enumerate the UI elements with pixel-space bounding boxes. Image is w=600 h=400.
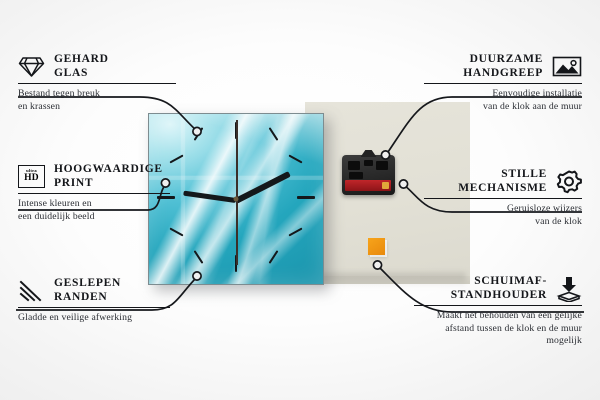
tick-4 xyxy=(288,227,302,236)
clock-mechanism xyxy=(342,155,395,195)
feature-title-line1: DUURZAME xyxy=(463,53,543,67)
battery xyxy=(345,180,391,191)
tick-5 xyxy=(269,250,279,264)
feature-rule xyxy=(414,305,582,306)
feature-duurzame-handgreep: DUURZAME HANDGREEP Eenvoudige installati… xyxy=(424,53,582,113)
press-down-icon xyxy=(556,276,582,302)
feature-geslepen-randen: GESLEPEN RANDEN Gladde en veilige afwerk… xyxy=(18,277,170,325)
gear-icon xyxy=(556,169,582,194)
picture-frame-icon xyxy=(552,55,582,78)
feature-rule xyxy=(18,83,176,84)
tick-2 xyxy=(288,154,302,163)
tick-7 xyxy=(194,250,204,264)
minute-hand xyxy=(235,171,291,204)
tick-11 xyxy=(194,127,204,141)
wall-clock xyxy=(148,113,324,285)
feature-desc-line1: Eenvoudige installatie xyxy=(424,88,582,100)
feature-desc-line2: afstand tussen de klok en de muur mogeli… xyxy=(414,323,582,347)
feature-title-line1: GEHARD xyxy=(54,53,109,67)
feature-title-line1: GESLEPEN xyxy=(54,277,121,291)
bevelled-edges-icon xyxy=(18,279,45,302)
feature-desc-line2: en krassen xyxy=(18,101,176,113)
feature-desc-line2: van de klok aan de muur xyxy=(424,101,582,113)
hand-pin xyxy=(234,197,239,202)
hour-hand xyxy=(183,191,236,203)
feature-title-line2: HANDGREEP xyxy=(463,67,543,81)
feature-header: STILLE MECHANISME xyxy=(424,168,582,195)
feature-desc-line1: Gladde en veilige afwerking xyxy=(18,312,170,324)
feature-desc-line1: Geruisloze wijzers xyxy=(424,203,582,215)
feature-rule xyxy=(18,307,170,308)
feature-desc-line1: Bestand tegen breuk xyxy=(18,88,176,100)
feature-header: GEHARD GLAS xyxy=(18,53,176,80)
feature-rule xyxy=(424,198,582,199)
feature-rule xyxy=(18,193,170,194)
feature-title-line2: PRINT xyxy=(54,177,163,191)
mechanism-detail xyxy=(364,160,373,166)
feature-header: ultra HD HOOGWAARDIGE PRINT xyxy=(18,163,170,190)
tick-1 xyxy=(269,127,279,141)
feature-desc-line1: Intense kleuren en xyxy=(18,198,170,210)
mechanism-detail xyxy=(376,161,388,170)
feature-title-line1: STILLE xyxy=(458,168,547,182)
feature-title-line2: RANDEN xyxy=(54,291,121,305)
product-photo xyxy=(130,95,470,285)
feature-title-line2: STANDHOUDER xyxy=(451,289,547,303)
foam-spacer xyxy=(368,238,385,255)
feature-hoogwaardige-print: ultra HD HOOGWAARDIGE PRINT Intense kleu… xyxy=(18,163,170,223)
tick-10 xyxy=(169,154,183,163)
feature-title-line1: SCHUIMAF- xyxy=(451,275,547,289)
mechanism-detail xyxy=(349,172,363,179)
feature-desc-line1: Maakt het behouden van een gelijke xyxy=(414,310,582,322)
feature-stille-mechanisme: STILLE MECHANISME Geruisloze wijzers van… xyxy=(424,168,582,228)
feature-rule xyxy=(424,83,582,84)
feature-title-line2: GLAS xyxy=(54,67,109,81)
diamond-icon xyxy=(18,55,45,78)
feature-header: DUURZAME HANDGREEP xyxy=(424,53,582,80)
feature-title-line2: MECHANISME xyxy=(458,182,547,196)
feature-gehard-glas: GEHARD GLAS Bestand tegen breuk en krass… xyxy=(18,53,176,113)
ultra-hd-icon: ultra HD xyxy=(18,165,45,188)
tick-8 xyxy=(169,227,183,236)
ultra-hd-large-text: HD xyxy=(24,174,39,184)
feature-schuimafstandhouder: SCHUIMAF- STANDHOUDER Maakt het behouden… xyxy=(414,275,582,347)
infographic-canvas: GEHARD GLAS Bestand tegen breuk en krass… xyxy=(0,0,600,400)
mechanism-detail xyxy=(348,161,360,170)
feature-desc-line2: van de klok xyxy=(424,216,582,228)
feature-header: GESLEPEN RANDEN xyxy=(18,277,170,304)
tick-3 xyxy=(297,196,315,199)
feature-header: SCHUIMAF- STANDHOUDER xyxy=(414,275,582,302)
second-hand xyxy=(236,120,238,265)
feature-desc-line2: een duidelijk beeld xyxy=(18,211,170,223)
feature-title-line1: HOOGWAARDIGE xyxy=(54,163,163,177)
